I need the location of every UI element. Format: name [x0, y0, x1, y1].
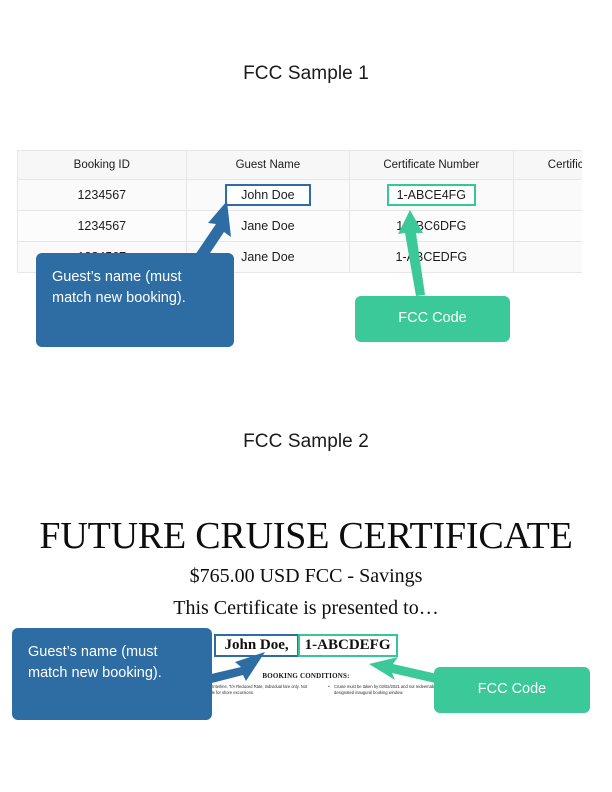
certificate-amount-line: $765.00 USD FCC - Savings	[0, 565, 612, 588]
callout-fcc-code-2: FCC Code	[434, 667, 590, 713]
blue-arrow-pointer-2	[205, 651, 271, 687]
table-header-row: Booking ID Guest Name Certificate Number…	[18, 151, 583, 180]
callout-fcc-code-1: FCC Code	[355, 296, 510, 342]
cell-certificate-number: 1-ABCE4FG	[350, 180, 513, 211]
certificate-number-highlight-box: 1-ABCE4FG	[387, 184, 476, 206]
certificate-presented-line: This Certificate is presented to…	[0, 597, 612, 620]
cell-booking-id: 1234567	[18, 211, 187, 242]
column-header-certificate-amount: Certificate Amount	[513, 151, 582, 180]
certificate-code-highlight-box-2: 1-ABCDEFG	[298, 634, 398, 657]
booking-conditions-bullet: •	[326, 684, 332, 690]
cell-certificate-amount: 1	[513, 180, 582, 211]
table-row: 1234567 John Doe 1-ABCE4FG 1	[18, 180, 583, 211]
green-arrow-pointer-1	[398, 208, 438, 300]
callout-guest-name-1: Guest’s name (must match new booking).	[36, 253, 234, 347]
column-header-certificate-number: Certificate Number	[350, 151, 513, 180]
page-title-sample-1: FCC Sample 1	[0, 63, 612, 85]
table-row: 1234567 Jane Doe 1-ABC6DFG 1	[18, 211, 583, 242]
page-title-sample-2: FCC Sample 2	[0, 431, 612, 453]
callout-guest-name-2: Guest’s name (must match new booking).	[12, 628, 212, 720]
cell-booking-id: 1234567	[18, 180, 187, 211]
column-header-guest-name: Guest Name	[186, 151, 349, 180]
cell-certificate-amount: 1	[513, 242, 582, 273]
cell-certificate-amount: 1	[513, 211, 582, 242]
column-header-booking-id: Booking ID	[18, 151, 187, 180]
certificate-title: FUTURE CRUISE CERTIFICATE	[0, 514, 612, 558]
